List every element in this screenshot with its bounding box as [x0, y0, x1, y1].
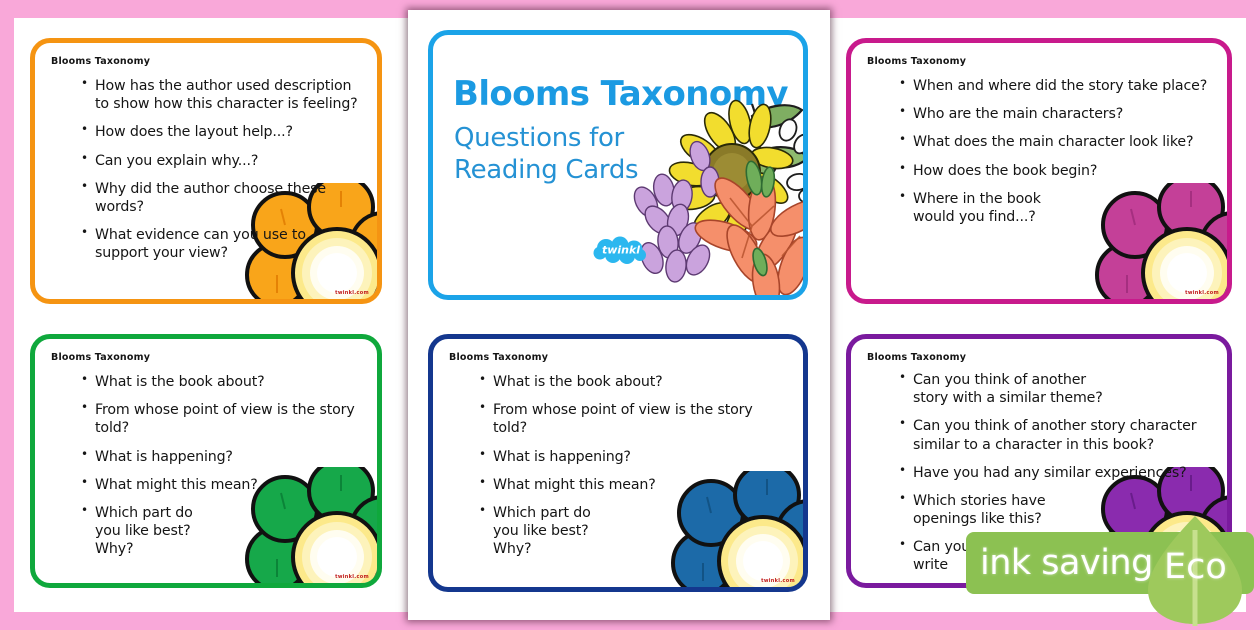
list-item: Why did the author choose these words? — [81, 180, 363, 216]
list-item: What does the main character look like? — [899, 133, 1213, 151]
list-item: Have you had any similar experiences? — [899, 464, 1213, 482]
twinkl-logo-icon: twinkl — [593, 235, 649, 265]
card-purple[interactable]: Blooms Taxonomy Can you think of another… — [846, 334, 1232, 588]
list-item: When and where did the story take place? — [899, 77, 1213, 95]
twinkl-watermark: twinkl.com — [335, 290, 369, 296]
question-list: When and where did the story take place?… — [899, 77, 1213, 236]
list-item: Where in the book would you find...? — [899, 190, 1063, 226]
list-item: Who are the main characters? — [899, 105, 1213, 123]
list-item: Which part do you like best? Why? — [81, 504, 220, 559]
list-item: What might this mean? — [479, 476, 789, 494]
twinkl-watermark: twinkl.com — [1185, 290, 1219, 296]
twinkl-watermark: twinkl.com — [335, 574, 369, 580]
card-orange[interactable]: Blooms Taxonomy How has the author used … — [30, 38, 382, 304]
question-list: How has the author used description to s… — [81, 77, 363, 272]
question-list: Can you think of another story with a si… — [899, 371, 1213, 585]
list-item: How does the book begin? — [899, 162, 1213, 180]
card-magenta[interactable]: Blooms Taxonomy When and where did the s… — [846, 38, 1232, 304]
list-item: How has the author used description to s… — [81, 77, 363, 113]
list-item: What is happening? — [81, 448, 363, 466]
card-header-label: Blooms Taxonomy — [51, 352, 150, 363]
list-item: Can you explain why...? — [81, 152, 363, 170]
list-item: How does the layout help...? — [81, 123, 363, 141]
twinkl-watermark: twinkl.com — [761, 578, 795, 584]
list-item: What evidence can you use to support you… — [81, 226, 363, 262]
twinkl-watermark: twinkl.com — [1185, 574, 1219, 580]
card-header-label: Blooms Taxonomy — [51, 56, 150, 67]
question-list: What is the book about? From whose point… — [81, 373, 363, 568]
list-item: Which part do you like best? Why? — [479, 504, 618, 559]
card-green[interactable]: Blooms Taxonomy What is the book about? … — [30, 334, 382, 588]
list-item: What is the book about? — [479, 373, 789, 391]
card-header-label: Blooms Taxonomy — [449, 352, 548, 363]
list-item: From whose point of view is the story to… — [81, 401, 363, 437]
card-header-label: Blooms Taxonomy — [867, 352, 966, 363]
list-item: What might this mean? — [81, 476, 363, 494]
list-item: Which stories have openings like this? — [899, 492, 1063, 528]
card-navy[interactable]: Blooms Taxonomy What is the book about? … — [428, 334, 808, 592]
poster-stage: Blooms Taxonomy How has the author used … — [0, 0, 1260, 630]
list-item: What is the book about? — [81, 373, 363, 391]
svg-text:twinkl: twinkl — [602, 244, 640, 257]
list-item: Can you th who write — [899, 538, 1063, 574]
list-item: What is happening? — [479, 448, 789, 466]
list-item: Can you think of another story with a si… — [899, 371, 1109, 407]
list-item: From whose point of view is the story to… — [479, 401, 789, 437]
question-list: What is the book about? From whose point… — [479, 373, 789, 568]
card-title[interactable]: Blooms Taxonomy Questions for Reading Ca… — [428, 30, 808, 300]
card-header-label: Blooms Taxonomy — [867, 56, 966, 67]
flower-bouquet-icon — [602, 86, 808, 300]
list-item: Can you think of another story character… — [899, 417, 1213, 453]
